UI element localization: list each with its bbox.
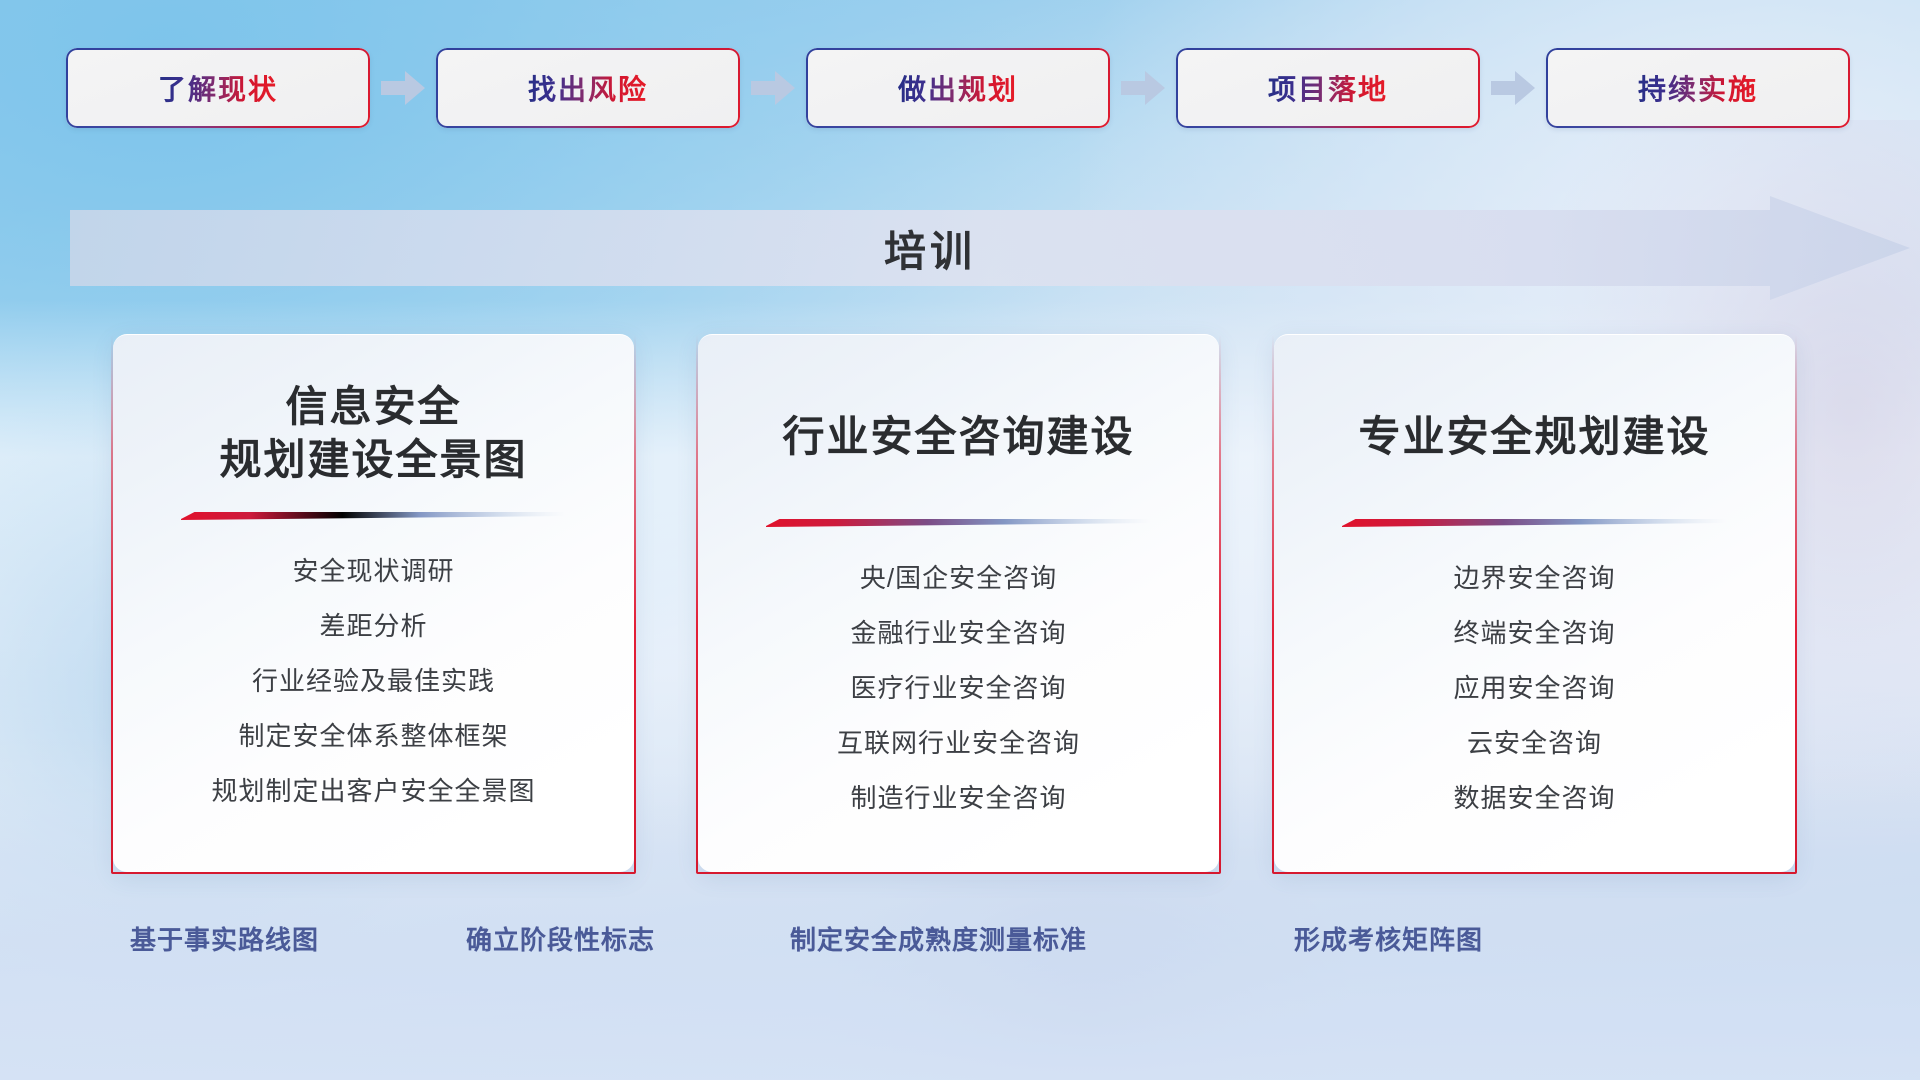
- card-title: 专业安全规划建设: [1300, 411, 1769, 464]
- process-step-5-label: 持续实施: [1638, 68, 1758, 108]
- card-list-item: 央/国企安全咨询: [860, 565, 1057, 591]
- card-list-item: 终端安全咨询: [1453, 620, 1615, 646]
- process-step-row: 了解现状 找出风险 做出规划 项目落地: [0, 0, 1920, 175]
- card-list-item: 差距分析: [319, 613, 427, 639]
- card-list-item: 安全现状调研: [292, 558, 454, 584]
- process-step-4-wrap: 项目落地: [1176, 48, 1480, 128]
- caption-row: 基于事实路线图 确立阶段性标志 制定安全成熟度测量标准 形成考核矩阵图: [0, 920, 1920, 980]
- card-item-list: 边界安全咨询 终端安全咨询 应用安全咨询 云安全咨询 数据安全咨询: [1300, 565, 1769, 811]
- card-left-accent-line: [696, 335, 698, 872]
- card-list-item: 制定安全体系整体框架: [238, 723, 508, 749]
- card-list-item: 应用安全咨询: [1453, 675, 1615, 701]
- card-bottom-accent-line: [1272, 872, 1797, 874]
- process-step-3-label: 做出规划: [898, 68, 1018, 108]
- training-banner: 培训: [70, 196, 1910, 300]
- card-list-item: 数据安全咨询: [1453, 785, 1615, 811]
- gradient-divider-icon: [1342, 518, 1727, 527]
- card-item-list: 安全现状调研 差距分析 行业经验及最佳实践 制定安全体系整体框架 规划制定出客户…: [139, 558, 608, 804]
- process-step-5[interactable]: 持续实施: [1546, 48, 1850, 128]
- card-professional-security-planning[interactable]: 专业安全规划建设 边界安全咨询 终端安全咨询: [1274, 334, 1795, 872]
- card-list-item: 医疗行业安全咨询: [850, 675, 1066, 701]
- card-right-accent-line: [1219, 335, 1221, 872]
- card-info-security-blueprint[interactable]: 信息安全 规划建设全景图 安全现状调研: [113, 334, 634, 872]
- card-title-line-2: 规划建设全景图: [139, 434, 608, 487]
- card-title: 信息安全 规划建设全景图: [139, 381, 608, 487]
- card-bottom-accent-line: [696, 872, 1221, 874]
- card-divider: [181, 511, 566, 520]
- step-connector-arrow-1: [370, 71, 436, 105]
- card-divider: [1342, 518, 1727, 527]
- step-connector-arrow-3: [1110, 71, 1176, 105]
- card-title: 行业安全咨询建设: [724, 411, 1193, 464]
- step-connector-arrow-2: [740, 71, 806, 105]
- process-step-4[interactable]: 项目落地: [1176, 48, 1480, 128]
- caption-assessment-matrix: 形成考核矩阵图: [1294, 920, 1483, 957]
- card-industry-security-consulting[interactable]: 行业安全咨询建设 央/国企安全咨询 金融行业安全咨: [698, 334, 1219, 872]
- gradient-divider-icon: [766, 518, 1151, 527]
- card-bottom-accent-line: [111, 872, 636, 874]
- card-list-item: 行业经验及最佳实践: [252, 668, 495, 694]
- caption-milestones: 确立阶段性标志: [466, 920, 655, 957]
- training-banner-label: 培训: [884, 218, 976, 279]
- card-list-item: 金融行业安全咨询: [850, 620, 1066, 646]
- process-step-2[interactable]: 找出风险: [436, 48, 740, 128]
- process-step-5-wrap: 持续实施: [1546, 48, 1850, 128]
- process-step-2-label: 找出风险: [528, 68, 648, 108]
- card-list-item: 云安全咨询: [1467, 730, 1602, 756]
- card-divider: [766, 518, 1151, 527]
- card-list-item: 制造行业安全咨询: [850, 785, 1066, 811]
- process-step-1-wrap: 了解现状: [66, 48, 370, 128]
- card-title-line-1: 信息安全: [139, 381, 608, 434]
- caption-maturity-scale: 制定安全成熟度测量标准: [790, 920, 1087, 957]
- process-step-1[interactable]: 了解现状: [66, 48, 370, 128]
- process-step-4-label: 项目落地: [1268, 68, 1388, 108]
- card-row: 信息安全 规划建设全景图 安全现状调研: [0, 334, 1920, 874]
- process-step-2-wrap: 找出风险: [436, 48, 740, 128]
- card-right-accent-line: [1795, 335, 1797, 872]
- card-left-accent-line: [111, 335, 113, 872]
- card-list-item: 互联网行业安全咨询: [837, 730, 1080, 756]
- step-connector-arrow-4: [1480, 71, 1546, 105]
- card-list-item: 边界安全咨询: [1453, 565, 1615, 591]
- card-left-accent-line: [1272, 335, 1274, 872]
- card-right-accent-line: [634, 335, 636, 872]
- card-item-list: 央/国企安全咨询 金融行业安全咨询 医疗行业安全咨询 互联网行业安全咨询 制造行…: [724, 565, 1193, 811]
- training-banner-label-wrap: 培训: [70, 196, 1910, 300]
- caption-roadmap: 基于事实路线图: [130, 920, 319, 957]
- card-title-line-1: 行业安全咨询建设: [724, 411, 1193, 464]
- gradient-divider-icon: [181, 511, 566, 520]
- process-step-3-wrap: 做出规划: [806, 48, 1110, 128]
- card-title-line-1: 专业安全规划建设: [1300, 411, 1769, 464]
- card-list-item: 规划制定出客户安全全景图: [211, 778, 535, 804]
- process-step-3[interactable]: 做出规划: [806, 48, 1110, 128]
- process-step-1-label: 了解现状: [158, 68, 278, 108]
